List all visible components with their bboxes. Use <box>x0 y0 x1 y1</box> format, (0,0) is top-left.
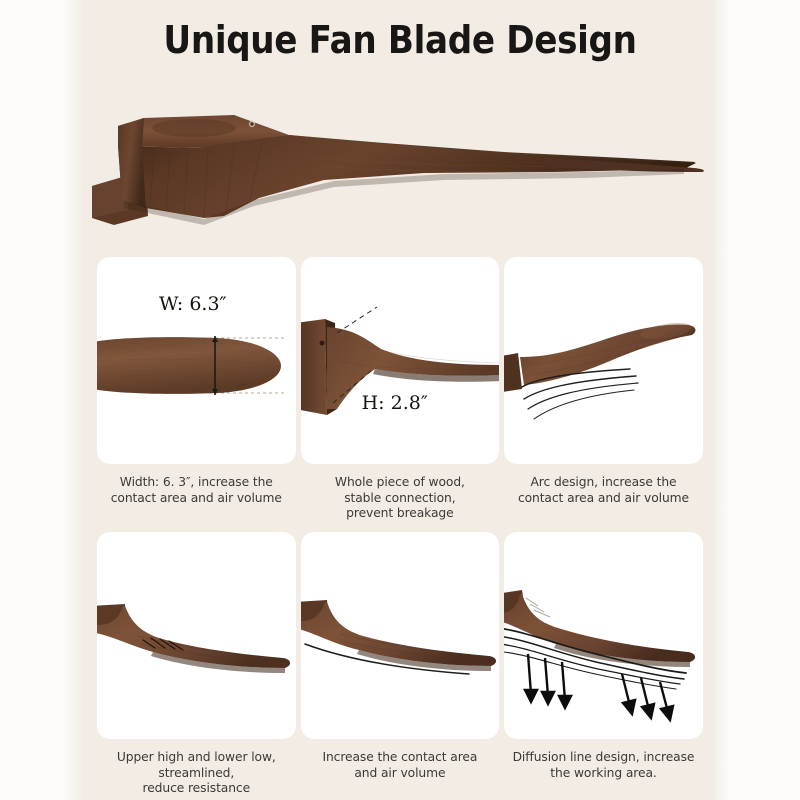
feature-card-wood[interactable]: H: 2.8″ <box>301 257 500 464</box>
feature-card-contact-area[interactable] <box>301 532 500 739</box>
left-gutter-fade <box>62 0 84 800</box>
caption-line: Diffusion line design, increase <box>505 750 701 766</box>
feature-cell-streamline: Upper high and lower low, streamlined, r… <box>97 532 296 797</box>
feature-card-streamline[interactable] <box>97 532 296 739</box>
caption-line: Increase the contact area <box>302 750 498 766</box>
caption-line: streamlined, <box>98 766 294 782</box>
feature-caption-wood: Whole piece of wood, stable connection, … <box>302 475 498 522</box>
feature-cell-arc: Arc design, increase the contact area an… <box>504 257 703 522</box>
infographic-page: Unique Fan Blade Design <box>0 0 800 800</box>
caption-line: the working area. <box>505 766 701 782</box>
caption-line: Upper high and lower low, <box>98 750 294 766</box>
caption-line: Whole piece of wood, <box>302 475 498 491</box>
feature-cell-contact-area: Increase the contact area and air volume <box>301 532 500 797</box>
hero-blade-image <box>84 88 724 238</box>
feature-caption-arc: Arc design, increase the contact area an… <box>505 475 701 506</box>
caption-line: contact area and air volume <box>505 491 701 507</box>
left-gutter-strip <box>0 0 62 800</box>
caption-line: contact area and air volume <box>98 491 294 507</box>
feature-caption-diffusion: Diffusion line design, increase the work… <box>505 750 701 781</box>
caption-line: reduce resistance <box>98 781 294 797</box>
feature-row-2: Upper high and lower low, streamlined, r… <box>97 532 703 797</box>
caption-line: Arc design, increase the <box>505 475 701 491</box>
width-dimension-label: W: 6.3″ <box>159 293 227 315</box>
height-dimension-label: H: 2.8″ <box>362 392 428 414</box>
right-gutter-strip <box>729 0 800 800</box>
feature-cell-diffusion: Diffusion line design, increase the work… <box>504 532 703 797</box>
feature-caption-contact-area: Increase the contact area and air volume <box>302 750 498 781</box>
feature-row-1: W: 6.3″ Width: 6. 3″, increase the conta… <box>97 257 703 522</box>
feature-cell-width: W: 6.3″ Width: 6. 3″, increase the conta… <box>97 257 296 522</box>
feature-card-arc[interactable] <box>504 257 703 464</box>
caption-line: stable connection, <box>302 491 498 507</box>
feature-card-diffusion[interactable] <box>504 532 703 739</box>
page-title: Unique Fan Blade Design <box>40 18 760 62</box>
feature-card-width[interactable]: W: 6.3″ <box>97 257 296 464</box>
caption-line: Width: 6. 3″, increase the <box>98 475 294 491</box>
caption-line: and air volume <box>302 766 498 782</box>
feature-cell-wood: H: 2.8″ Whole piece of wood, stable conn… <box>301 257 500 522</box>
feature-caption-streamline: Upper high and lower low, streamlined, r… <box>98 750 294 797</box>
feature-caption-width: Width: 6. 3″, increase the contact area … <box>98 475 294 506</box>
caption-line: prevent breakage <box>302 506 498 522</box>
